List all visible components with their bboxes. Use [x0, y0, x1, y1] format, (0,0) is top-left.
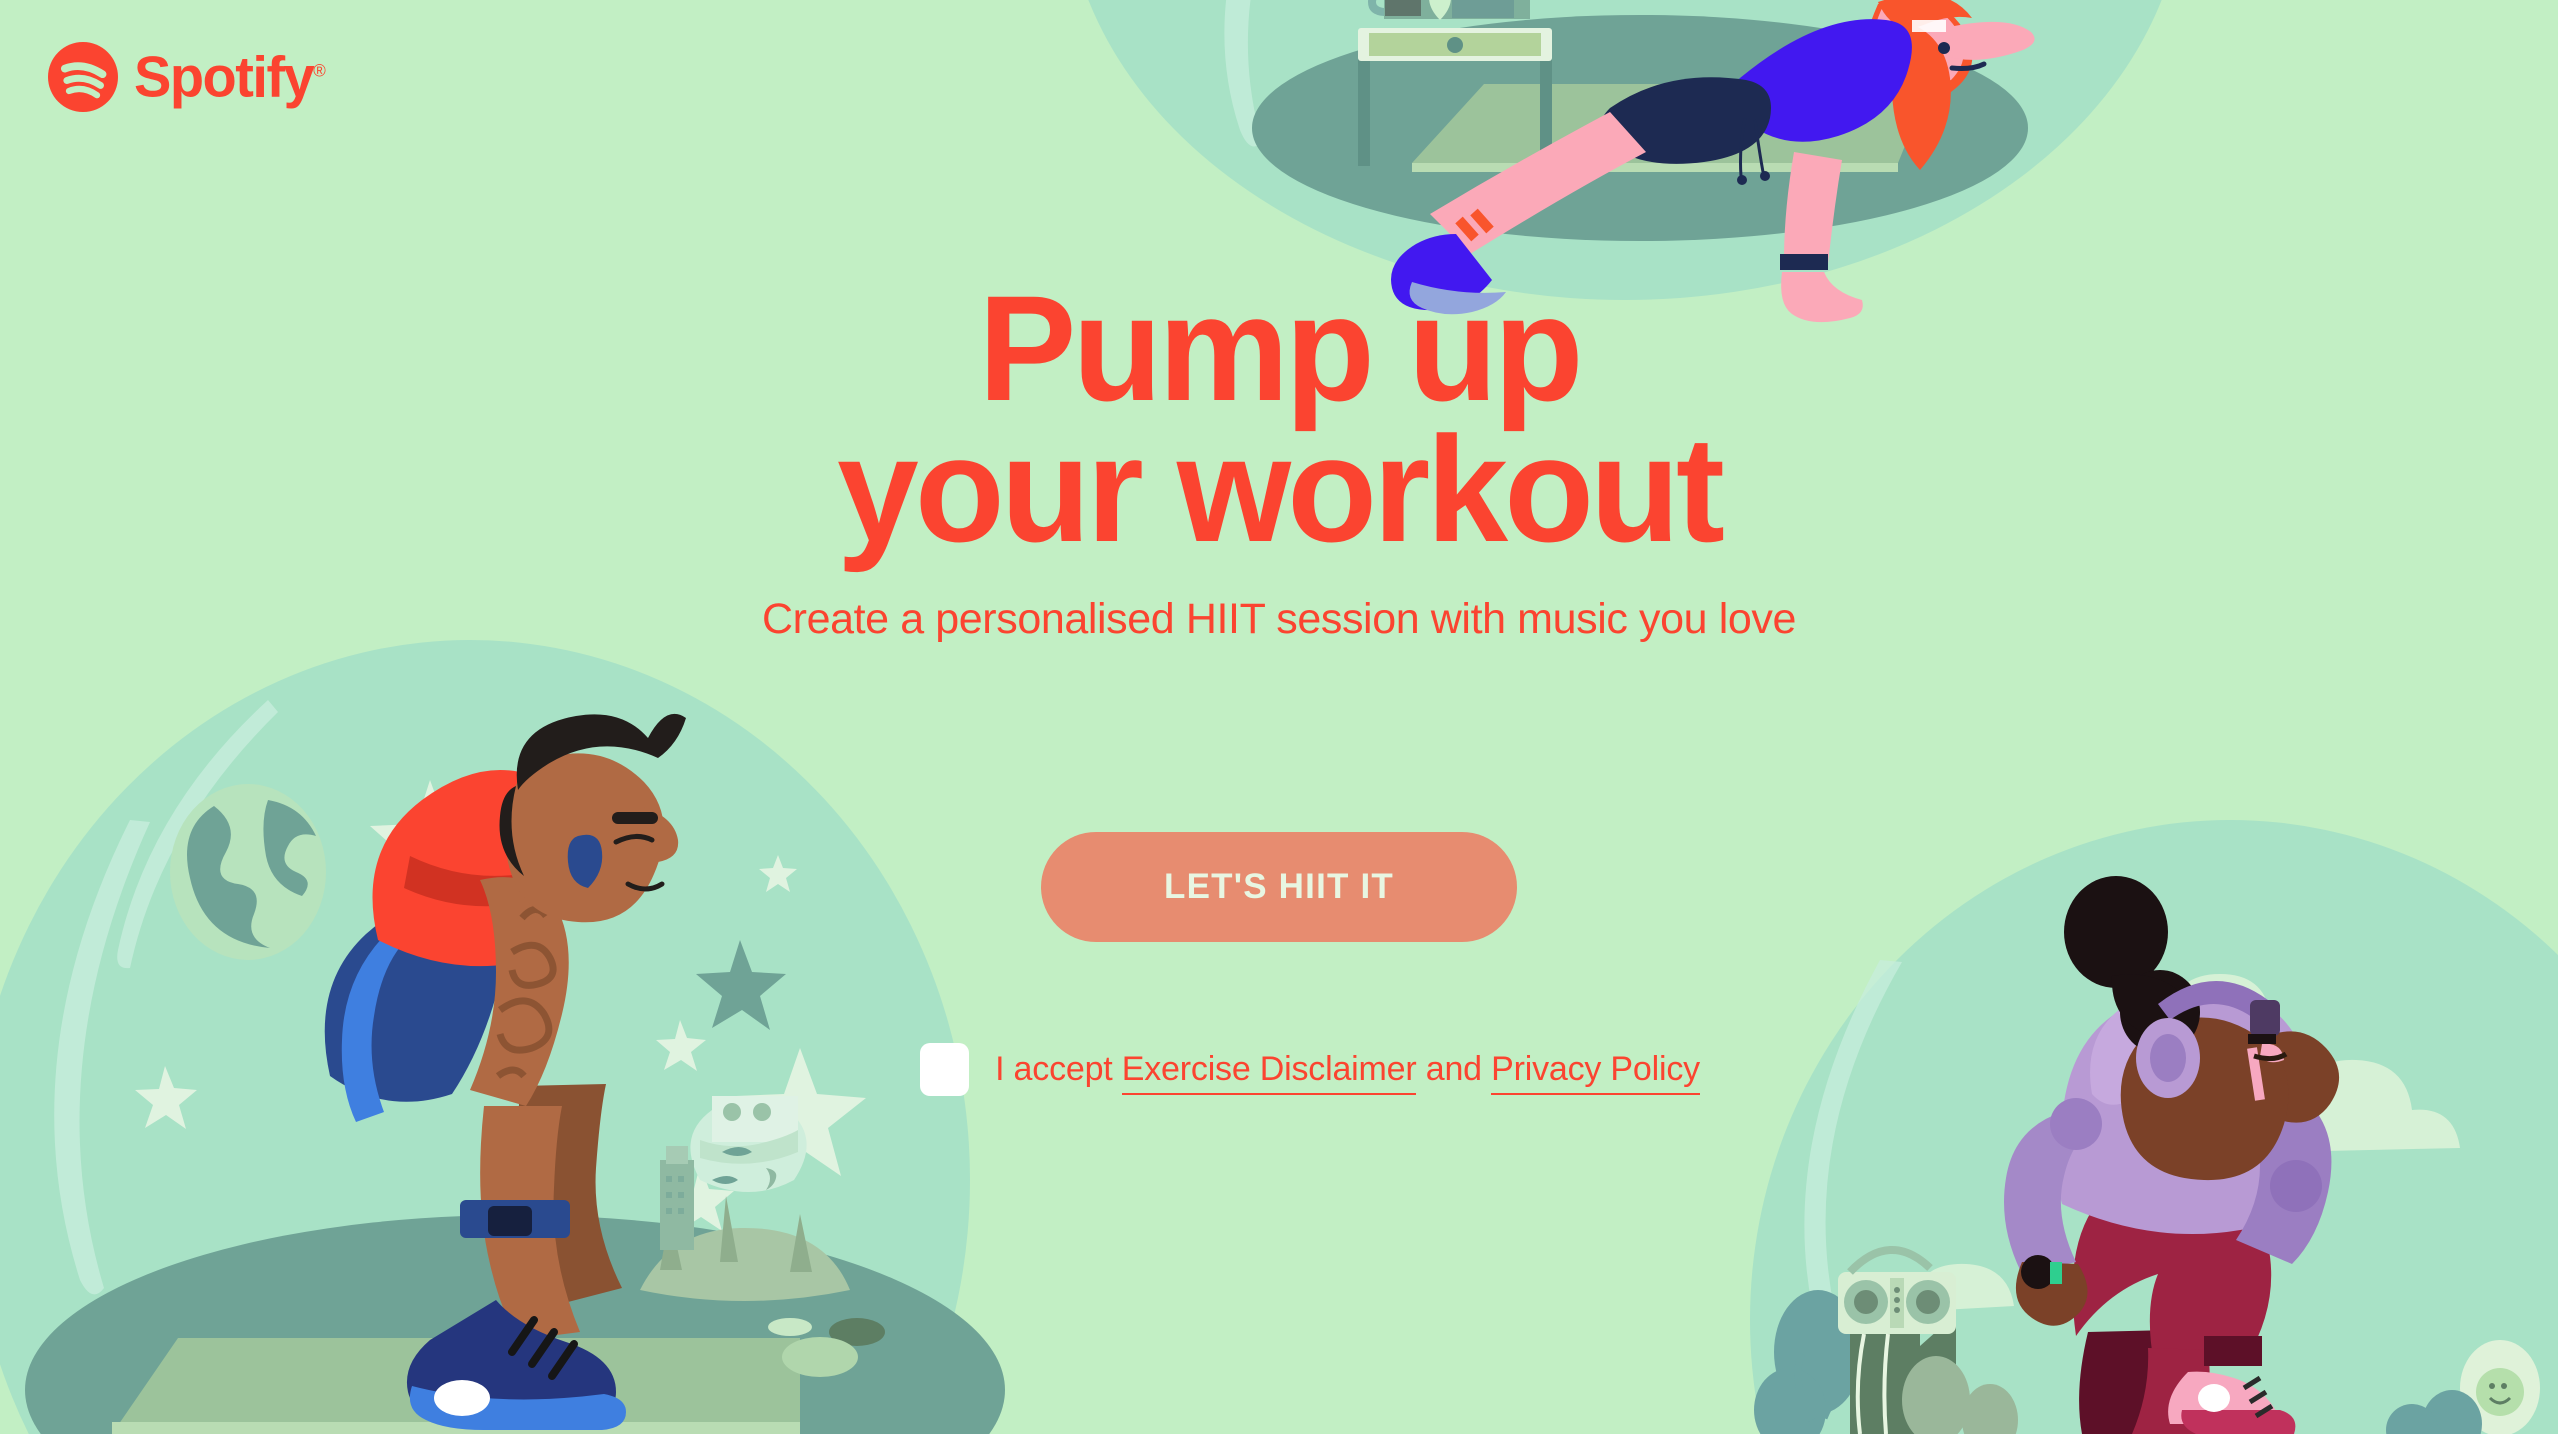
exercise-disclaimer-link[interactable]: Exercise Disclaimer [1122, 1050, 1417, 1095]
hero-section: Pump up your workout Create a personalis… [0, 278, 2558, 643]
registered-mark: ® [313, 61, 326, 80]
heading-line-1: Pump up [26, 278, 2533, 419]
spotify-logo-icon [48, 42, 118, 112]
lets-hiit-it-button[interactable]: LET'S HIIT IT [1041, 832, 1517, 942]
brand-wordmark: Spotify® [134, 48, 326, 105]
heading-line-2: your workout [26, 419, 2533, 560]
accept-terms-checkbox[interactable] [920, 1043, 969, 1096]
privacy-policy-link[interactable]: Privacy Policy [1491, 1050, 1700, 1095]
page-title: Pump up your workout [26, 278, 2533, 560]
consent-row: I accept Exercise Disclaimer and Privacy… [0, 1043, 2558, 1096]
spotify-logo[interactable]: Spotify® [48, 42, 326, 112]
consent-conjunction: and [1416, 1050, 1491, 1088]
page-subtitle: Create a personalised HIIT session with … [0, 596, 2558, 643]
consent-prefix: I accept [995, 1050, 1122, 1088]
ui-layer: Spotify® Pump up your workout Create a p… [0, 0, 2558, 1434]
landing-page: Spotify® Pump up your workout Create a p… [0, 0, 2558, 1434]
brand-name: Spotify [134, 44, 313, 108]
cta-container: LET'S HIIT IT [0, 832, 2558, 942]
consent-label: I accept Exercise Disclaimer and Privacy… [995, 1050, 1700, 1089]
